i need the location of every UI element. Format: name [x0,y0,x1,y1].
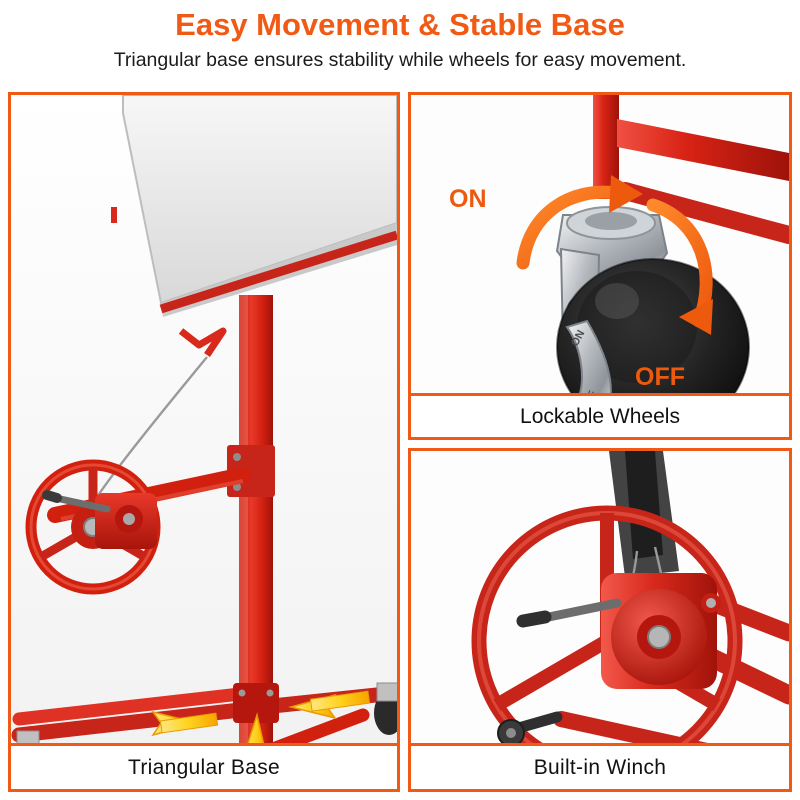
header: Easy Movement & Stable Base Triangular b… [0,0,800,73]
winch-body [601,573,721,689]
panel-triangular-base: Triangular Base [8,92,400,792]
panel-lockable-wheels: ON OFF ON OFF Lockable Wheels [408,92,792,440]
panel-built-in-winch: Built-in Winch [408,448,792,792]
illustration-winch [411,451,789,789]
illustration-drywall-lift [11,95,397,789]
panel-grid: Triangular Base [8,92,792,792]
page-subtitle: Triangular base ensures stability while … [0,47,800,73]
page-title: Easy Movement & Stable Base [0,6,800,44]
label-off: OFF [635,363,685,391]
photo-lockable-wheels: ON OFF ON OFF [411,95,789,437]
photo-built-in-winch [411,451,789,789]
label-on: ON [449,185,487,213]
caption-built-in-winch: Built-in Winch [411,743,789,789]
caption-lockable-wheels: Lockable Wheels [411,393,789,437]
caption-triangular-base: Triangular Base [11,743,397,789]
photo-triangular-base [11,95,397,789]
illustration-caster-wheel: ON OFF ON OFF [411,95,789,437]
